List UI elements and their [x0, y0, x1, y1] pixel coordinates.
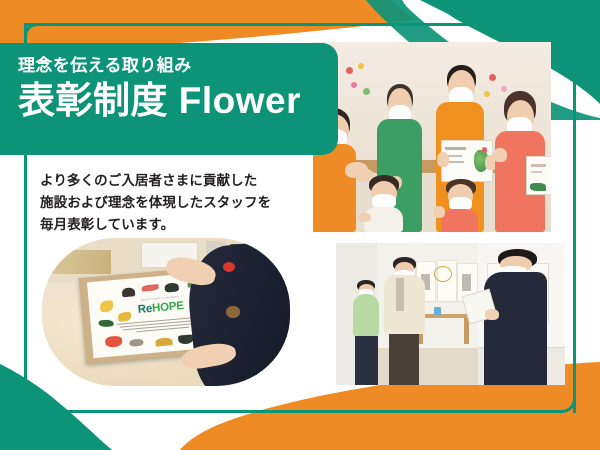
body-copy-line-3: 毎月表彰しています。 [40, 214, 302, 236]
framed-certificate-photo: Award Flower of the Month ReHOPE [42, 238, 290, 386]
hairline-right [573, 3, 576, 413]
body-copy: より多くのご入居者さまに貢献した 施設および理念を体現したスタッフを 毎月表彰し… [40, 170, 302, 236]
group-photo-award-winners [313, 42, 551, 232]
certificate-brand-prefix: Re [137, 303, 152, 316]
hairline-top [24, 23, 600, 26]
slide-canvas: Award Flower of the Month ReHOPE 理念を伝える取… [0, 0, 600, 450]
body-copy-line-1: より多くのご入居者さまに貢献した [40, 170, 302, 192]
hairline-corner-bottom-right [549, 386, 576, 413]
headline-card: 理念を伝える取り組み 表彰制度 Flower [0, 43, 338, 155]
hairline-bottom [0, 410, 552, 413]
body-copy-line-2: 施設および理念を体現したスタッフを [40, 192, 302, 214]
award-ceremony-photo [336, 243, 565, 385]
certificate-brand-suffix: HOPE [151, 300, 184, 315]
page-title: 表彰制度 Flower [18, 80, 338, 121]
eyebrow-text: 理念を伝える取り組み [18, 57, 338, 76]
